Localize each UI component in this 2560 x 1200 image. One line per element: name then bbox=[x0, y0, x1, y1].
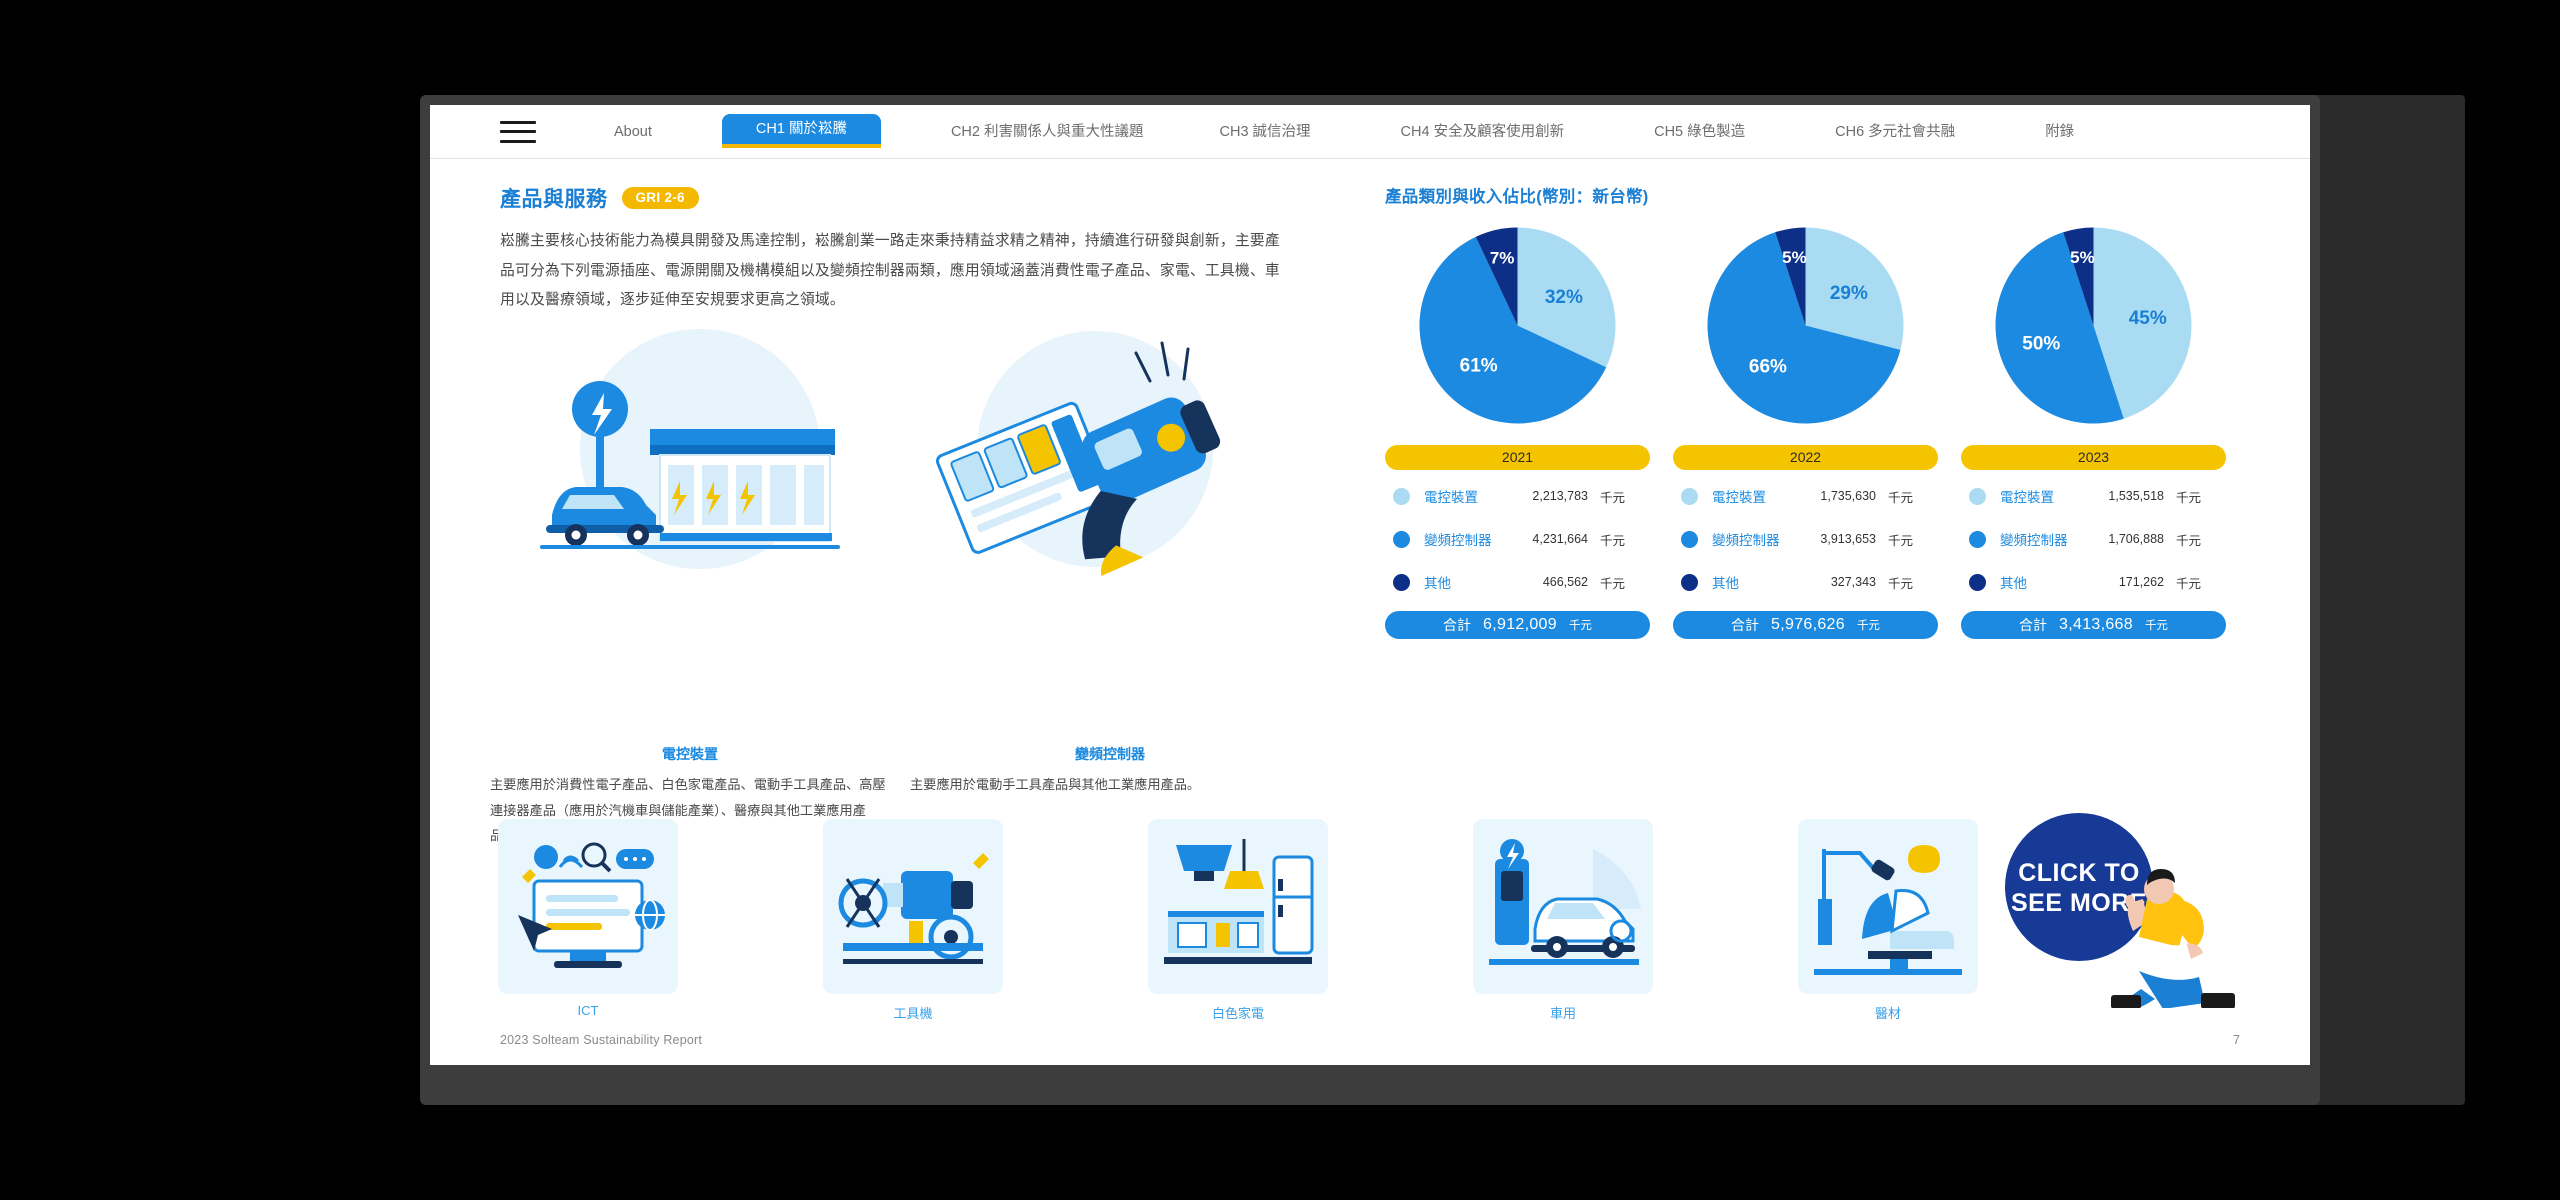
pie-slice-label: 7% bbox=[1490, 249, 1515, 268]
nav-item-ch6[interactable]: CH6 多元社會共融 bbox=[1829, 105, 1961, 159]
legend-amount: 3,913,653 bbox=[1802, 532, 1876, 546]
total-unit: 千元 bbox=[2145, 617, 2168, 633]
pie-slice-label: 32% bbox=[1545, 287, 1583, 308]
illustration-row bbox=[500, 319, 1300, 629]
legend-dot-dark bbox=[1681, 574, 1698, 591]
legend-dot-dark bbox=[1393, 574, 1410, 591]
pie-slice-label: 29% bbox=[1830, 283, 1868, 304]
legend-item: 其他 466,562 千元 bbox=[1385, 565, 1650, 599]
legend-label: 變頻控制器 bbox=[1424, 529, 1514, 549]
thumbnail-machine-tool[interactable]: 工具機 bbox=[823, 819, 1003, 1022]
legend-dot-light bbox=[1393, 488, 1410, 505]
thumbnail-ict[interactable]: ICT bbox=[498, 819, 678, 1018]
total-label: 合計 bbox=[1731, 615, 1759, 635]
legend-item: 其他 327,343 千元 bbox=[1673, 565, 1938, 599]
year-pill-2022: 2022 bbox=[1673, 445, 1938, 470]
section-lead-paragraph: 崧騰主要核心技術能力為模具開發及馬達控制，崧騰創業一路走來秉持精益求精之精神，持… bbox=[500, 227, 1290, 316]
nav-item-ch3[interactable]: CH3 誠信治理 bbox=[1214, 105, 1317, 159]
legend-item: 電控裝置 1,735,630 千元 bbox=[1673, 479, 1938, 513]
legend-item: 電控裝置 1,535,518 千元 bbox=[1961, 479, 2226, 513]
legend-dot-medium bbox=[1969, 531, 1986, 548]
pie-slice-label: 5% bbox=[1782, 248, 1807, 267]
automotive-ev-illustration bbox=[1473, 819, 1653, 994]
legend-label: 變頻控制器 bbox=[1712, 529, 1802, 549]
legend-unit: 千元 bbox=[1888, 573, 1913, 592]
thumbnail-home-appliance[interactable]: 白色家電 bbox=[1148, 819, 1328, 1022]
charts-title: 產品類別與收入佔比(幣別：新台幣) bbox=[1385, 183, 2240, 207]
legend-label: 電控裝置 bbox=[2000, 486, 2090, 506]
gri-badge: GRI 2-6 bbox=[622, 187, 699, 209]
nav-item-ch1[interactable]: CH1 關於崧騰 bbox=[722, 114, 881, 148]
pie-charts-row: 32%61%7% 29%66%5% 45%50%5% bbox=[1385, 213, 2240, 443]
total-unit: 千元 bbox=[1857, 617, 1880, 633]
inverter-controller-illustration bbox=[900, 319, 1290, 594]
total-pill-2021: 合計 6,912,009 千元 bbox=[1385, 611, 1650, 639]
home-appliance-kitchen-illustration bbox=[1148, 819, 1328, 994]
total-pill-2023: 合計 3,413,668 千元 bbox=[1961, 611, 2226, 639]
nav-item-appendix[interactable]: 附錄 bbox=[2039, 105, 2080, 159]
click-to-see-more-cta[interactable]: CLICK TO SEE MORE bbox=[1983, 803, 2248, 1008]
thumbnail-automotive[interactable]: 車用 bbox=[1473, 819, 1653, 1022]
legend-amount: 327,343 bbox=[1802, 575, 1876, 589]
legend-label: 電控裝置 bbox=[1424, 486, 1514, 506]
page-footer: 2023 Solteam Sustainability Report 7 bbox=[500, 1033, 2240, 1047]
thumbnail-label: ICT bbox=[498, 1003, 678, 1018]
legend-amount: 1,735,630 bbox=[1802, 489, 1876, 503]
legend-item: 變頻控制器 1,706,888 千元 bbox=[1961, 522, 2226, 556]
pie-slice-label: 50% bbox=[2022, 333, 2060, 354]
legend-dot-light bbox=[1969, 488, 1986, 505]
legend-label: 其他 bbox=[1712, 572, 1802, 592]
pie-chart-2022: 29%66%5% bbox=[1673, 213, 1938, 438]
legend-item: 電控裝置 2,213,783 千元 bbox=[1385, 479, 1650, 513]
svg-text:CLICK TO: CLICK TO bbox=[2018, 859, 2140, 887]
total-label: 合計 bbox=[1443, 615, 1471, 635]
pie-slice-label: 5% bbox=[2070, 248, 2095, 267]
legend-amount: 2,213,783 bbox=[1514, 489, 1588, 503]
nav-item-ch2[interactable]: CH2 利害關係人與重大性議題 bbox=[945, 105, 1150, 159]
legend-item: 變頻控制器 3,913,653 千元 bbox=[1673, 522, 1938, 556]
legend-unit: 千元 bbox=[2176, 530, 2201, 549]
legend-column-2021: 2021 電控裝置 2,213,783 千元 變頻控制器 4,231,664 千… bbox=[1385, 445, 1650, 639]
legend-unit: 千元 bbox=[1888, 487, 1913, 506]
screenshot-root: About CH1 關於崧騰 CH2 利害關係人與重大性議題 CH3 誠信治理 … bbox=[0, 0, 2560, 1200]
legend-dot-medium bbox=[1393, 531, 1410, 548]
caption-inverter-controller: 變頻控制器 主要應用於電動手工具產品與其他工業應用產品。 bbox=[910, 744, 1310, 798]
legend-dot-medium bbox=[1681, 531, 1698, 548]
pie-slice-label: 61% bbox=[1460, 355, 1498, 376]
charts-panel: 產品類別與收入佔比(幣別：新台幣) 32%61%7% 29%66%5% 45%5… bbox=[1385, 183, 2240, 207]
page-content: 產品與服務 GRI 2-6 崧騰主要核心技術能力為模具開發及馬達控制，崧騰創業一… bbox=[430, 159, 2310, 1065]
hamburger-menu-icon[interactable] bbox=[500, 121, 536, 143]
legend-label: 其他 bbox=[2000, 572, 2090, 592]
caption-body: 主要應用於電動手工具產品與其他工業應用產品。 bbox=[910, 772, 1310, 798]
legend-amount: 1,535,518 bbox=[2090, 489, 2164, 503]
total-value: 6,912,009 bbox=[1483, 616, 1557, 634]
application-thumbnails-row: ICT bbox=[498, 819, 2248, 1019]
total-label: 合計 bbox=[2019, 615, 2047, 635]
legend-amount: 466,562 bbox=[1514, 575, 1588, 589]
legend-item: 變頻控制器 4,231,664 千元 bbox=[1385, 522, 1650, 556]
nav-items: About CH1 關於崧騰 CH2 利害關係人與重大性議題 CH3 誠信治理 … bbox=[536, 105, 2310, 159]
medical-dental-chair-illustration bbox=[1798, 819, 1978, 994]
year-pill-2021: 2021 bbox=[1385, 445, 1650, 470]
section-header: 產品與服務 GRI 2-6 bbox=[500, 183, 1300, 213]
legend-unit: 千元 bbox=[1888, 530, 1913, 549]
thumbnail-label: 車用 bbox=[1473, 1003, 1653, 1022]
thumbnail-label: 工具機 bbox=[823, 1003, 1003, 1022]
year-pill-2023: 2023 bbox=[1961, 445, 2226, 470]
legend-amount: 171,262 bbox=[2090, 575, 2164, 589]
caption-title: 電控裝置 bbox=[490, 744, 890, 764]
legend-amount: 1,706,888 bbox=[2090, 532, 2164, 546]
page-number: 7 bbox=[2233, 1033, 2240, 1047]
total-value: 5,976,626 bbox=[1771, 616, 1845, 634]
ev-charging-station-illustration bbox=[500, 319, 890, 594]
legend-dot-light bbox=[1681, 488, 1698, 505]
top-navigation: About CH1 關於崧騰 CH2 利害關係人與重大性議題 CH3 誠信治理 … bbox=[430, 105, 2310, 159]
legend-column-2022: 2022 電控裝置 1,735,630 千元 變頻控制器 3,913,653 千… bbox=[1673, 445, 1938, 639]
nav-item-ch4[interactable]: CH4 安全及顧客使用創新 bbox=[1395, 105, 1571, 159]
legend-label: 變頻控制器 bbox=[2000, 529, 2090, 549]
pie-chart-2023: 45%50%5% bbox=[1961, 213, 2226, 438]
page-title: 產品與服務 bbox=[500, 183, 608, 213]
legend-unit: 千元 bbox=[1600, 573, 1625, 592]
legend-amount: 4,231,664 bbox=[1514, 532, 1588, 546]
thumbnail-label: 醫材 bbox=[1798, 1003, 1978, 1022]
legend-dot-dark bbox=[1969, 574, 1986, 591]
legend-unit: 千元 bbox=[2176, 487, 2201, 506]
thumbnail-medical[interactable]: 醫材 bbox=[1798, 819, 1978, 1022]
legend-label: 電控裝置 bbox=[1712, 486, 1802, 506]
ict-computer-illustration bbox=[498, 819, 678, 994]
nav-item-about[interactable]: About bbox=[608, 105, 658, 159]
total-pill-2022: 合計 5,976,626 千元 bbox=[1673, 611, 1938, 639]
total-value: 3,413,668 bbox=[2059, 616, 2133, 634]
left-column: 產品與服務 GRI 2-6 崧騰主要核心技術能力為模具開發及馬達控制，崧騰創業一… bbox=[500, 183, 1300, 316]
legend-unit: 千元 bbox=[1600, 530, 1625, 549]
legend-label: 其他 bbox=[1424, 572, 1514, 592]
legend-column-2023: 2023 電控裝置 1,535,518 千元 變頻控制器 1,706,888 千… bbox=[1961, 445, 2226, 639]
footer-report-name: 2023 Solteam Sustainability Report bbox=[500, 1033, 702, 1047]
pie-slice-label: 66% bbox=[1749, 357, 1787, 378]
nav-item-ch5[interactable]: CH5 綠色製造 bbox=[1648, 105, 1751, 159]
browser-viewport: About CH1 關於崧騰 CH2 利害關係人與重大性議題 CH3 誠信治理 … bbox=[430, 105, 2310, 1065]
pie-slice-label: 45% bbox=[2129, 308, 2167, 329]
total-unit: 千元 bbox=[1569, 617, 1592, 633]
legend-unit: 千元 bbox=[1600, 487, 1625, 506]
caption-title: 變頻控制器 bbox=[910, 744, 1310, 764]
machine-tool-illustration bbox=[823, 819, 1003, 994]
legend-item: 其他 171,262 千元 bbox=[1961, 565, 2226, 599]
legend-unit: 千元 bbox=[2176, 573, 2201, 592]
pie-chart-2021: 32%61%7% bbox=[1385, 213, 1650, 438]
thumbnail-label: 白色家電 bbox=[1148, 1003, 1328, 1022]
